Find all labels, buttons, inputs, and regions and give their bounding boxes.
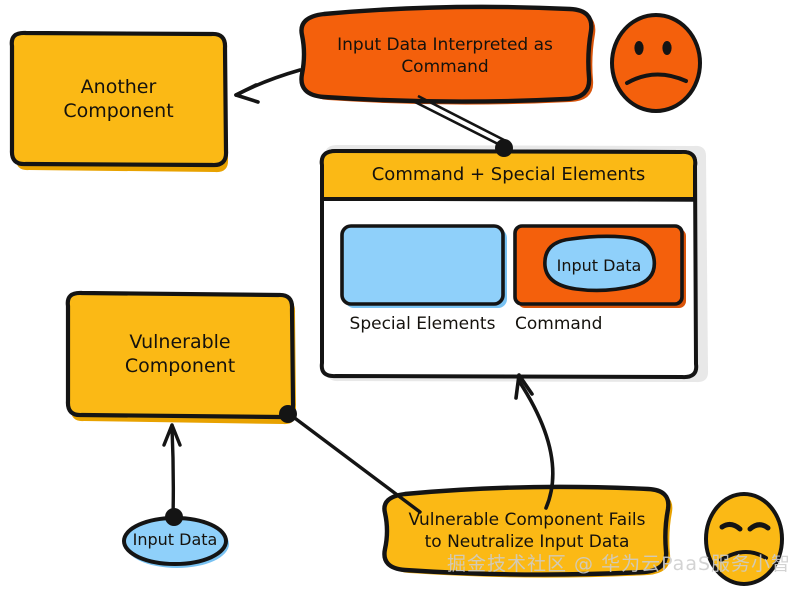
watermark: 掘金技术社区 @ 华为云PaaS服务小智 — [447, 549, 788, 576]
connector-input-data-to-vulnerable — [164, 425, 183, 526]
connector-dot-panel-top — [495, 139, 513, 157]
connector-callout-to-another-component — [236, 70, 300, 102]
diagram-canvas: Another Component Vulnerable Component I… — [0, 0, 788, 589]
connector-callout-to-panel — [413, 96, 513, 157]
connector-vulnerable-to-callout — [279, 405, 420, 512]
connector-dot-input-data — [165, 508, 183, 526]
connectors-layer — [0, 0, 788, 589]
connector-callout-to-panel-bottom — [516, 375, 553, 508]
connector-dot-vulnerable-right — [279, 405, 297, 423]
